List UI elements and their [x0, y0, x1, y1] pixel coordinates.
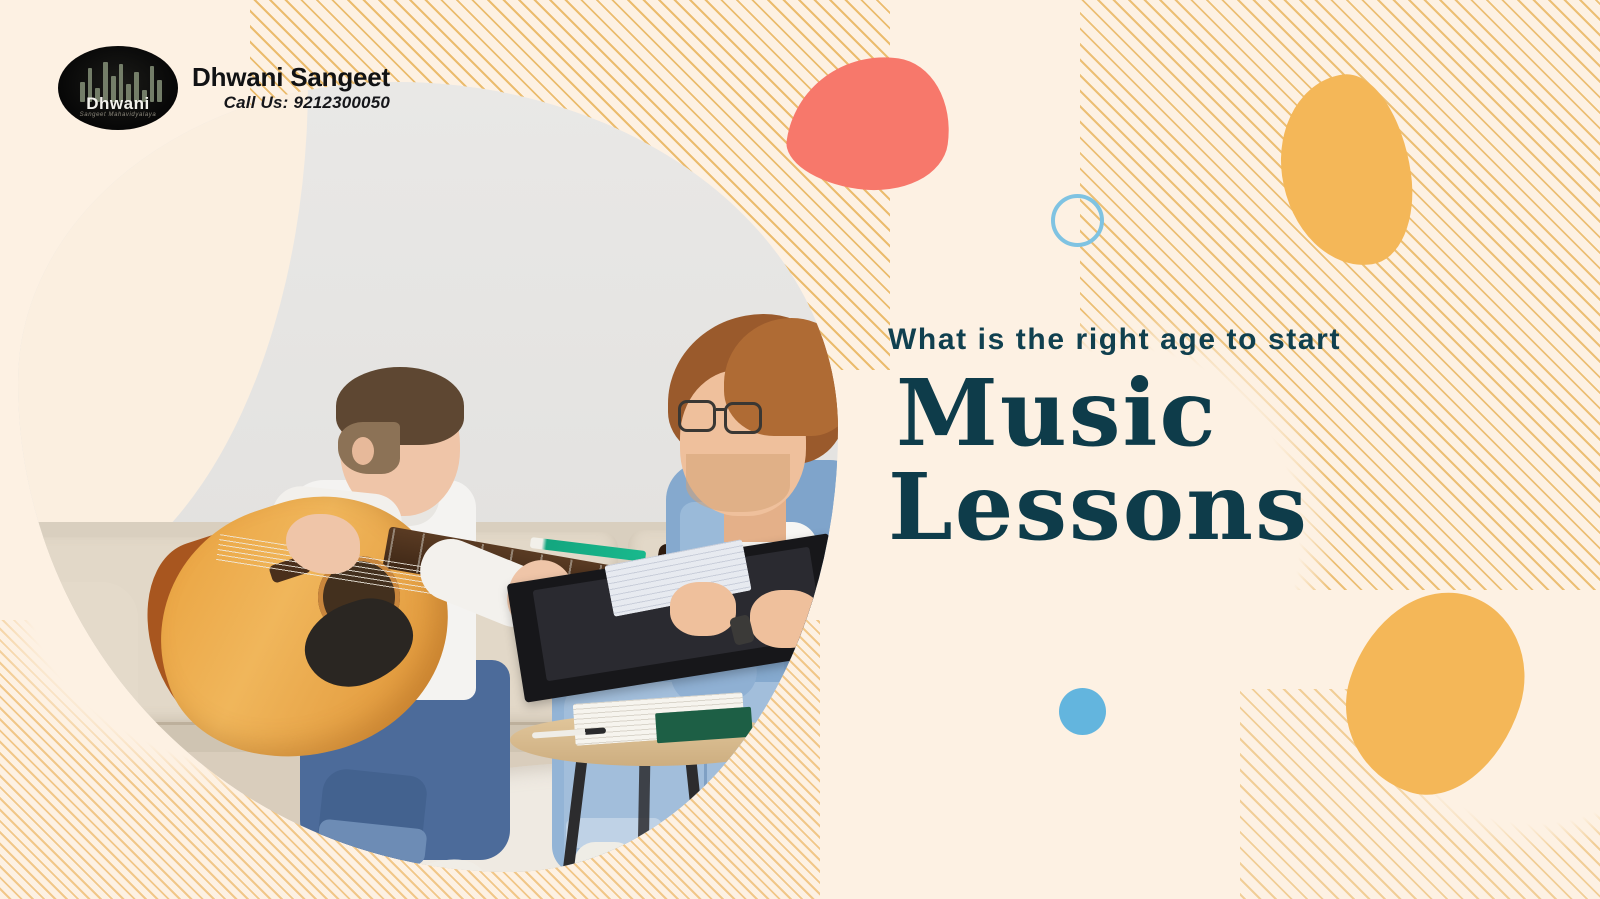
headline-eyebrow: What is the right age to start [888, 322, 1548, 358]
promo-banner: Dhwani Sangeet Mahavidyalaya Dhwani Sang… [0, 0, 1600, 899]
teacher-hand-left [670, 582, 736, 636]
logo-wordmark: Dhwani [58, 94, 178, 114]
teacher-sock [736, 848, 794, 872]
headline-title-line1: Music [896, 368, 1548, 458]
boy-ear [352, 437, 374, 465]
dhwani-logo-icon[interactable]: Dhwani Sangeet Mahavidyalaya [58, 46, 178, 130]
blue-ring-small [1051, 194, 1104, 247]
teacher-sock [574, 842, 636, 872]
orange-blob-top-right [1269, 67, 1422, 275]
table-leg [637, 758, 651, 872]
glasses-lens-right [724, 402, 762, 434]
brand-text-block: Dhwani Sangeet Call Us: 9212300050 [192, 63, 390, 114]
headline-block: What is the right age to start Music Les… [888, 322, 1548, 552]
photo-scene [18, 82, 838, 872]
brand-phone[interactable]: Call Us: 9212300050 [192, 93, 390, 113]
glasses-icon [678, 400, 770, 434]
lesson-photo [18, 82, 838, 872]
blue-dot [1059, 688, 1106, 735]
brand-header[interactable]: Dhwani Sangeet Mahavidyalaya Dhwani Sang… [58, 46, 390, 130]
brand-name: Dhwani Sangeet [192, 63, 390, 92]
headline-title-line2: Lessons [888, 462, 1548, 552]
orange-blob-bottom-right [1322, 569, 1547, 816]
plant-leaves-icon [26, 742, 146, 842]
teacher-beard [686, 454, 790, 512]
logo-tagline: Sangeet Mahavidyalaya [58, 112, 178, 118]
teacher-hand-right [750, 590, 822, 648]
glasses-lens-left [678, 400, 716, 432]
